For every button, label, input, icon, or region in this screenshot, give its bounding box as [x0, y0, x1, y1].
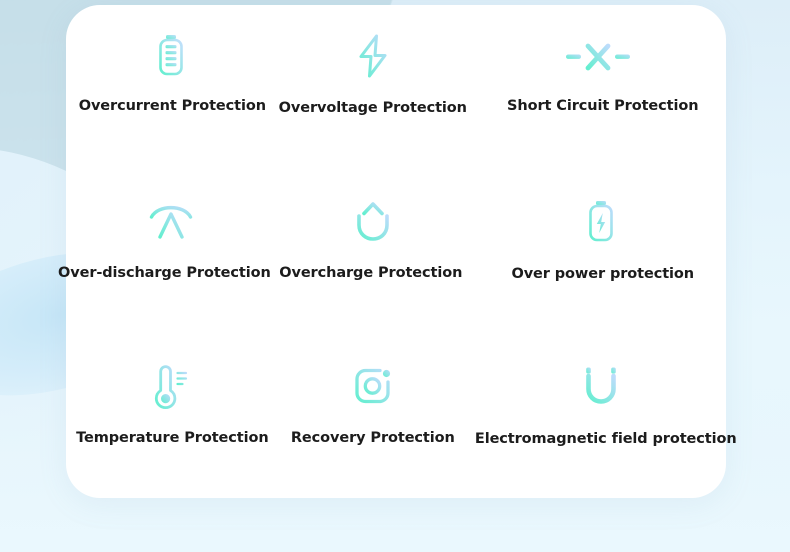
- feature-item-temperature[interactable]: Temperature Protection: [66, 334, 279, 498]
- broken-circuit-x-icon: [565, 29, 631, 85]
- feature-item-overvoltage[interactable]: Overvoltage Protection: [279, 5, 467, 169]
- refresh-recovery-icon: [352, 358, 394, 414]
- battery-bolt-icon: [586, 193, 616, 249]
- feature-item-short-circuit[interactable]: Short Circuit Protection: [467, 5, 729, 169]
- feature-label: Over power protection: [511, 266, 694, 282]
- feature-item-electromagnetic[interactable]: Electromagnetic field protection: [467, 334, 729, 498]
- horseshoe-magnet-icon: [582, 358, 620, 414]
- feature-item-recovery[interactable]: Recovery Protection: [279, 334, 467, 498]
- thermometer-icon: [150, 358, 192, 414]
- arc-letter-a-icon: [148, 193, 194, 249]
- feature-label: Temperature Protection: [76, 430, 268, 446]
- feature-label: Short Circuit Protection: [507, 98, 698, 114]
- feature-label: Overvoltage Protection: [279, 100, 467, 116]
- lightning-bolt-icon: [353, 28, 393, 84]
- feature-item-over-power[interactable]: Over power protection: [467, 169, 729, 333]
- feature-label: Overcurrent Protection: [79, 98, 266, 114]
- feature-item-overcharge[interactable]: Overcharge Protection: [279, 169, 467, 333]
- feature-item-overcurrent[interactable]: Overcurrent Protection: [66, 5, 279, 169]
- feature-label: Electromagnetic field protection: [475, 431, 737, 447]
- feature-label: Overcharge Protection: [279, 265, 462, 281]
- feature-item-over-discharge[interactable]: Over-discharge Protection: [66, 169, 279, 333]
- page-background: Overcurrent Protection Overvoltage: [0, 0, 790, 552]
- u-up-arrow-icon: [353, 193, 393, 249]
- protection-features-grid: Overcurrent Protection Overvoltage: [66, 5, 726, 498]
- feature-label: Over-discharge Protection: [58, 265, 271, 281]
- protection-features-card: Overcurrent Protection Overvoltage: [66, 5, 726, 498]
- feature-label: Recovery Protection: [291, 430, 455, 446]
- battery-icon: [156, 27, 186, 83]
